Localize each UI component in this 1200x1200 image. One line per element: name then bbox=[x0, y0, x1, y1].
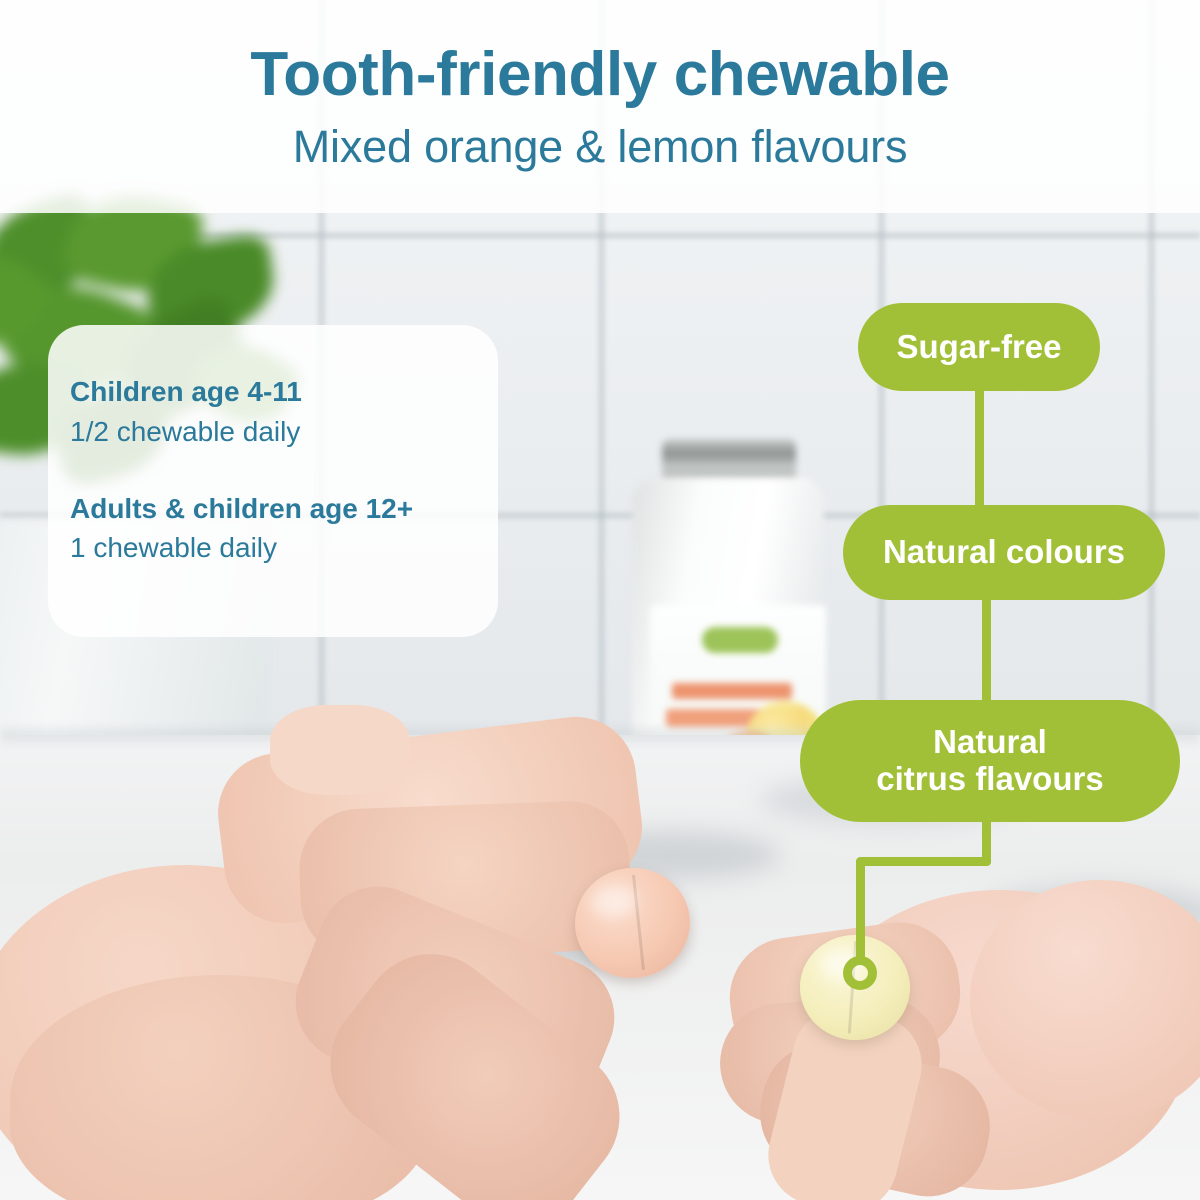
dosage-card: Children age 4-11 1/2 chewable daily Adu… bbox=[48, 325, 498, 637]
callout-natural-citrus-flavours: Natural citrus flavours bbox=[800, 700, 1180, 822]
callout-natural-colours: Natural colours bbox=[843, 505, 1165, 600]
callout-sugar-free-label: Sugar-free bbox=[896, 329, 1061, 366]
connector-pill2-pill3 bbox=[982, 594, 991, 708]
page-subtitle: Mixed orange & lemon flavours bbox=[293, 123, 908, 170]
tablet-marker-ring bbox=[843, 956, 877, 990]
product-infographic: Tooth-friendly chewable Mixed orange & l… bbox=[0, 0, 1200, 1200]
connector-elbow-horizontal bbox=[856, 857, 991, 866]
dosage-instruction-children: 1/2 chewable daily bbox=[70, 417, 498, 448]
dosage-instruction-adults: 1 chewable daily bbox=[70, 533, 498, 564]
dosage-entry-adults: Adults & children age 12+ 1 chewable dai… bbox=[70, 494, 498, 565]
callout-citrus-line2: citrus flavours bbox=[876, 760, 1103, 797]
callout-natural-colours-label: Natural colours bbox=[883, 534, 1125, 571]
left-hand bbox=[0, 745, 710, 1200]
supplement-bottle bbox=[622, 425, 834, 755]
page-title: Tooth-friendly chewable bbox=[250, 42, 949, 107]
right-hand bbox=[720, 880, 1200, 1200]
connector-elbow-vertical bbox=[856, 857, 865, 962]
callout-sugar-free: Sugar-free bbox=[858, 303, 1100, 391]
connector-pill1-pill2 bbox=[975, 385, 984, 513]
header-banner: Tooth-friendly chewable Mixed orange & l… bbox=[0, 0, 1200, 213]
dosage-audience-children: Children age 4-11 bbox=[70, 377, 498, 408]
callout-citrus-text: Natural citrus flavours bbox=[876, 724, 1103, 798]
dosage-entry-children: Children age 4-11 1/2 chewable daily bbox=[70, 377, 498, 448]
dosage-audience-adults: Adults & children age 12+ bbox=[70, 494, 498, 525]
callout-citrus-line1: Natural bbox=[933, 723, 1047, 760]
